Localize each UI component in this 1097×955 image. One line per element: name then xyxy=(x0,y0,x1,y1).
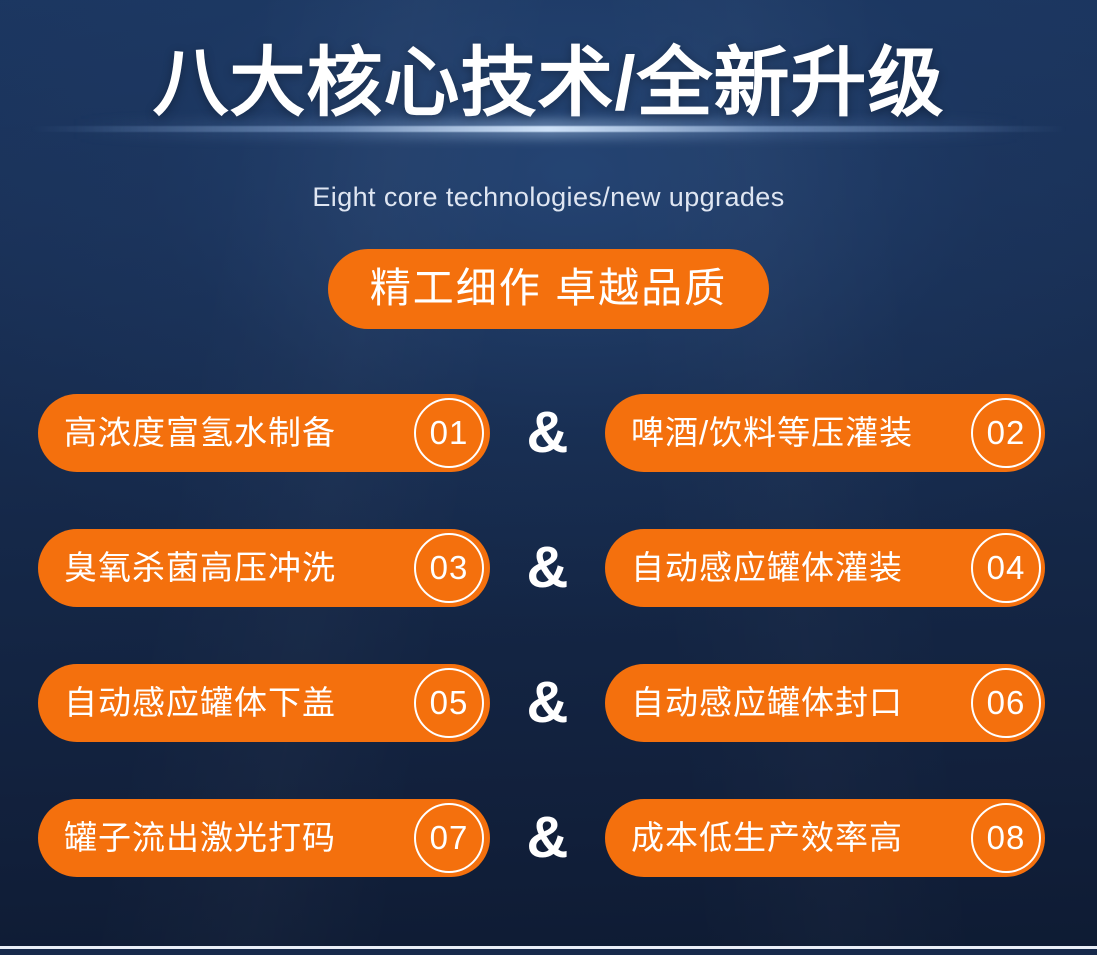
feature-pill-03[interactable]: 臭氧杀菌高压冲洗 03 xyxy=(38,529,490,607)
feature-pill-06[interactable]: 自动感应罐体封口 06 xyxy=(605,664,1045,742)
ampersand-separator: & xyxy=(490,400,605,466)
feature-number-badge: 07 xyxy=(414,803,484,873)
page-subtitle: Eight core technologies/new upgrades xyxy=(0,178,1097,216)
slogan-badge: 精工细作 卓越品质 xyxy=(328,249,769,329)
feature-row: 高浓度富氢水制备 01 & 啤酒/饮料等压灌装 02 xyxy=(0,394,1097,529)
promotional-poster: 八大核心技术/全新升级 Eight core technologies/new … xyxy=(0,0,1097,955)
feature-number-badge: 04 xyxy=(971,533,1041,603)
title-glow-divider xyxy=(30,126,1067,132)
feature-pill-02[interactable]: 啤酒/饮料等压灌装 02 xyxy=(605,394,1045,472)
feature-row: 臭氧杀菌高压冲洗 03 & 自动感应罐体灌装 04 xyxy=(0,529,1097,664)
feature-pill-08[interactable]: 成本低生产效率高 08 xyxy=(605,799,1045,877)
title-block: 八大核心技术/全新升级 xyxy=(0,36,1097,132)
feature-number-badge: 01 xyxy=(414,398,484,468)
bottom-strip xyxy=(0,949,1097,955)
page-title: 八大核心技术/全新升级 xyxy=(0,36,1097,132)
feature-number-badge: 03 xyxy=(414,533,484,603)
ampersand-separator: & xyxy=(490,535,605,601)
feature-pill-04[interactable]: 自动感应罐体灌装 04 xyxy=(605,529,1045,607)
feature-number-badge: 02 xyxy=(971,398,1041,468)
feature-grid: 高浓度富氢水制备 01 & 啤酒/饮料等压灌装 02 臭氧杀菌高压冲洗 03 &… xyxy=(0,394,1097,934)
feature-pill-05[interactable]: 自动感应罐体下盖 05 xyxy=(38,664,490,742)
feature-pill-01[interactable]: 高浓度富氢水制备 01 xyxy=(38,394,490,472)
feature-row: 罐子流出激光打码 07 & 成本低生产效率高 08 xyxy=(0,799,1097,934)
feature-number-badge: 08 xyxy=(971,803,1041,873)
slogan-container: 精工细作 卓越品质 xyxy=(0,249,1097,329)
ampersand-separator: & xyxy=(490,805,605,871)
feature-pill-07[interactable]: 罐子流出激光打码 07 xyxy=(38,799,490,877)
feature-number-badge: 05 xyxy=(414,668,484,738)
ampersand-separator: & xyxy=(490,670,605,736)
feature-row: 自动感应罐体下盖 05 & 自动感应罐体封口 06 xyxy=(0,664,1097,799)
feature-number-badge: 06 xyxy=(971,668,1041,738)
